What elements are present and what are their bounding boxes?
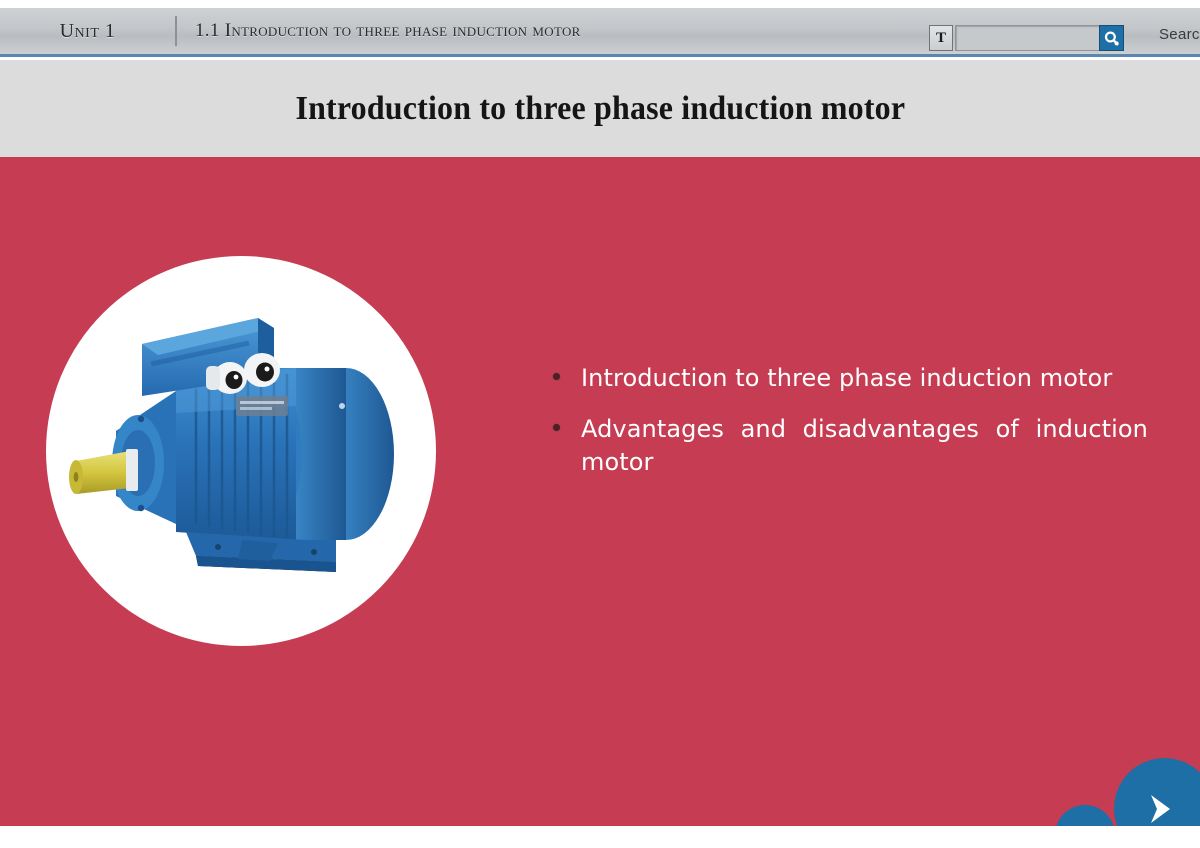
decorative-circle [1055,805,1115,826]
bullet-dot-icon [553,424,560,431]
bottom-white-strip [0,826,1200,848]
unit-label: Unit 1 [0,20,175,43]
list-item: Introduction to three phase induction mo… [553,362,1148,395]
bullet-text: Advantages and disadvantages of inductio… [581,413,1148,512]
bullet-list: Introduction to three phase induction mo… [553,362,1148,530]
text-size-button[interactable]: T [929,25,953,51]
chevron-right-icon [1137,786,1183,827]
bullet-dot-icon [553,373,560,380]
search-label: Search [1159,26,1200,43]
search-icon[interactable] [1099,25,1124,51]
slide-page: Unit 1 1.1 Introduction to three phase i… [0,0,1200,848]
motor-image [46,256,436,646]
list-item: Advantages and disadvantages of inductio… [553,413,1148,512]
search-input[interactable] [955,25,1099,51]
next-slide-button[interactable] [1114,758,1200,826]
search-widget: T [929,25,1124,51]
bullet-text: Introduction to three phase induction mo… [581,362,1148,395]
slide-body: Introduction to three phase induction mo… [0,157,1200,826]
page-title: Introduction to three phase induction mo… [295,90,905,128]
top-white-strip [0,0,1200,8]
title-band: Introduction to three phase induction mo… [0,60,1200,157]
